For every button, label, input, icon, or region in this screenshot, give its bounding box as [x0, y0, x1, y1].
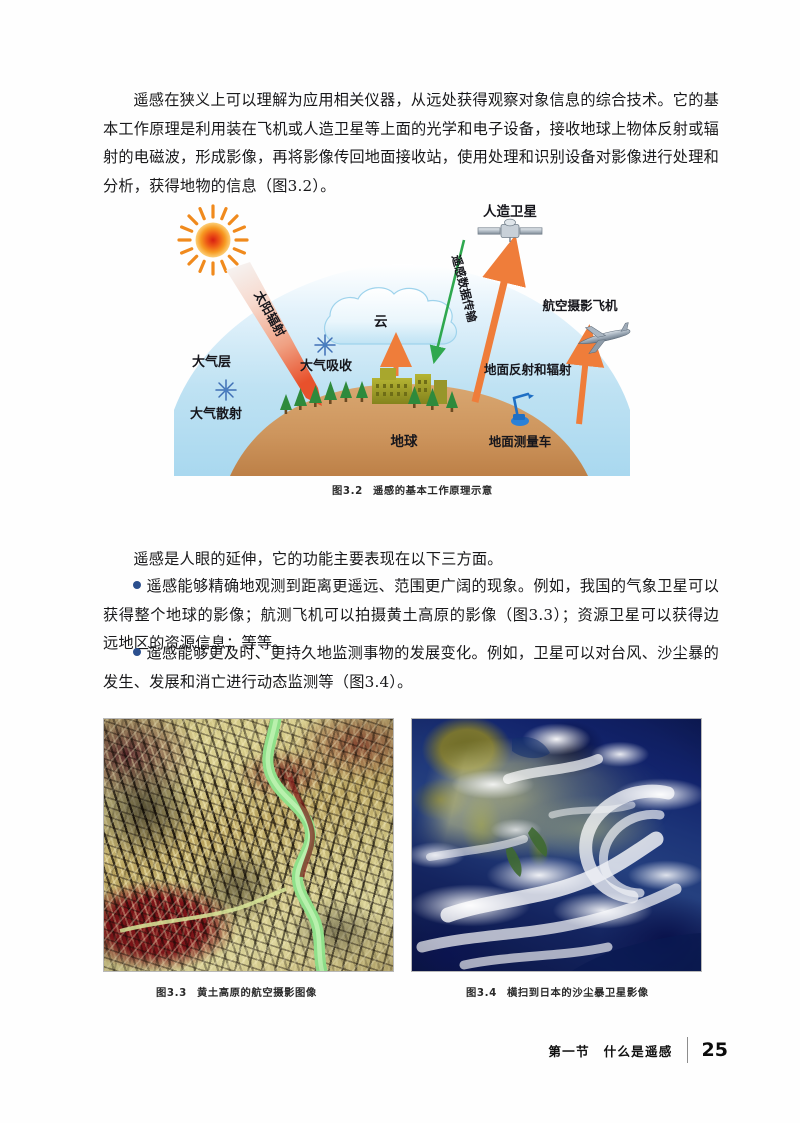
label-atmosphere: 大气层 — [192, 354, 231, 370]
figure-3-2-diagram: 太阳辐射 大气层 大气散射 云 — [168, 198, 634, 476]
bullet-dot-icon — [133, 648, 141, 656]
figure-3-3-caption-number: 图3.3 — [156, 987, 187, 999]
textbook-page: 遥感在狭义上可以理解为应用相关仪器，从远处获得观察对象信息的综合技术。它的基本工… — [0, 0, 800, 1123]
figure-3-4-image — [411, 718, 702, 972]
label-ground-reflection-radiation: 地面反射和辐射 — [484, 362, 572, 377]
page-footer: 第一节 什么是遥感 25 — [0, 1037, 800, 1071]
footer-section-label: 第一节 什么是遥感 — [548, 1041, 672, 1060]
figure-3-4-caption-number: 图3.4 — [466, 987, 497, 999]
figure-3-2-caption-text: 遥感的基本工作原理示意 — [373, 485, 493, 497]
figure-3-3-image — [103, 718, 394, 972]
footer-divider — [687, 1037, 688, 1063]
sun-icon — [179, 206, 247, 274]
figure-3-2-caption: 图3.2遥感的基本工作原理示意 — [332, 482, 493, 497]
figure-3-3-caption-text: 黄土高原的航空摄影图像 — [197, 987, 317, 999]
label-aerial-photo-plane: 航空摄影飞机 — [542, 298, 618, 313]
satellite-icon — [478, 219, 542, 242]
loess-vignette — [104, 719, 393, 971]
paragraph-remote-sensing-definition: 遥感在狭义上可以理解为应用相关仪器，从远处获得观察对象信息的综合技术。它的基本工… — [103, 86, 719, 200]
absorption-star-icon — [315, 335, 335, 355]
dust-vignette — [412, 719, 701, 971]
bullet-item-monitoring-timeliness-text: 遥感能够更及时、更持久地监测事物的发展变化。例如，卫星可以对台风、沙尘暴的发生、… — [103, 644, 719, 691]
page-number: 25 — [702, 1039, 728, 1061]
label-atmospheric-scattering: 大气散射 — [190, 406, 242, 422]
label-cloud: 云 — [374, 314, 388, 330]
label-ground-survey-vehicle: 地面测量车 — [489, 434, 552, 449]
label-satellite: 人造卫星 — [483, 203, 537, 220]
figure-3-4-caption: 图3.4横扫到日本的沙尘暴卫星影像 — [466, 984, 649, 999]
bullet-dot-icon — [133, 581, 141, 589]
paragraph-human-eye-extension: 遥感是人眼的延伸，它的功能主要表现在以下三方面。 — [103, 545, 719, 574]
figure-3-2-caption-number: 图3.2 — [332, 485, 363, 497]
label-earth: 地球 — [391, 433, 418, 450]
bullet-item-monitoring-timeliness: 遥感能够更及时、更持久地监测事物的发展变化。例如，卫星可以对台风、沙尘暴的发生、… — [103, 639, 719, 696]
figure-3-4-caption-text: 横扫到日本的沙尘暴卫星影像 — [507, 987, 649, 999]
figure-3-3-caption: 图3.3黄土高原的航空摄影图像 — [156, 984, 317, 999]
scattering-star-icon — [216, 380, 236, 400]
label-atmospheric-absorption: 大气吸收 — [300, 358, 353, 374]
